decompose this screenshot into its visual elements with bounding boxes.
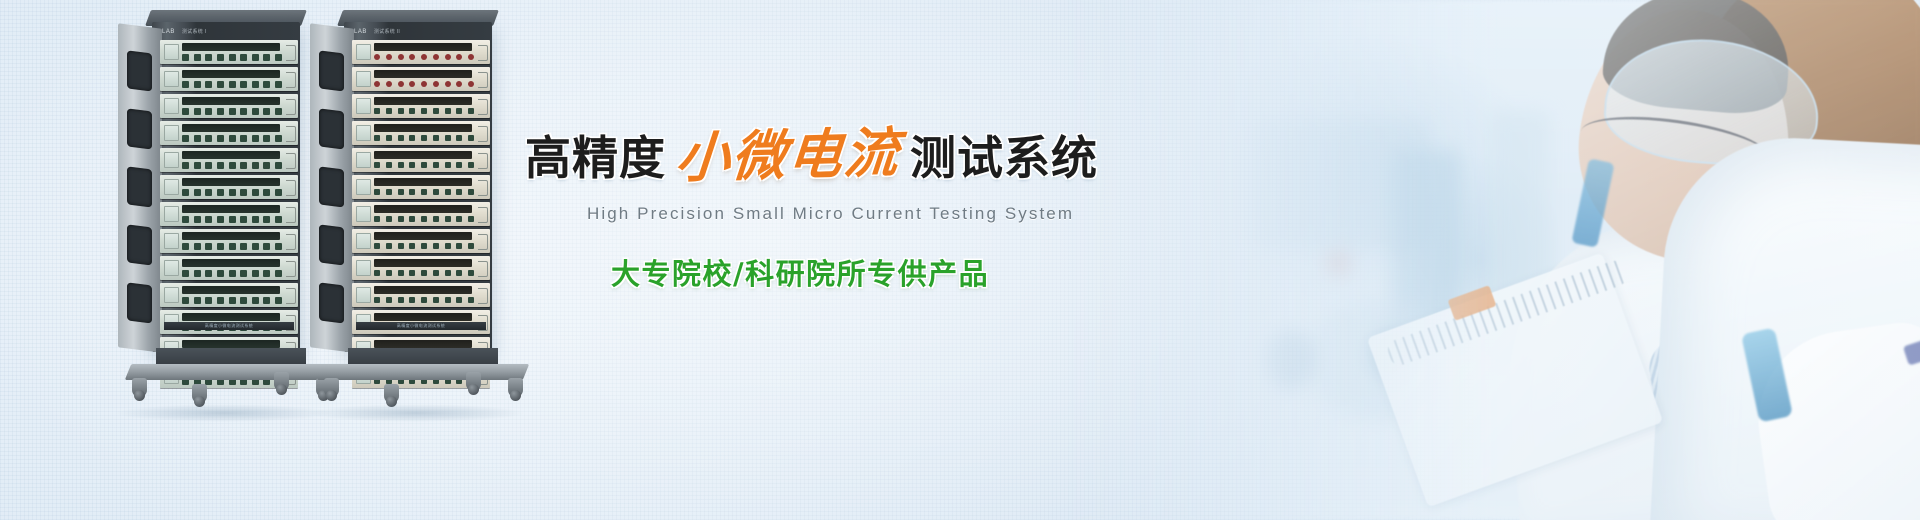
- banner-headline: 高精度 小微电流 测试系统: [525, 128, 1145, 182]
- module-display-icon: [164, 179, 179, 195]
- module-handle-icon: [478, 180, 488, 196]
- module-terminal-row: [374, 188, 474, 196]
- module-readout: [182, 151, 280, 159]
- rack-module: [160, 40, 298, 64]
- module-handle-icon: [478, 126, 488, 142]
- module-readout: [182, 97, 280, 105]
- module-readout: [374, 70, 472, 78]
- rack-bottom-label: 高精度小微电流测试系统: [164, 322, 294, 330]
- rack-module: [352, 94, 490, 118]
- rack-base: [128, 348, 324, 390]
- rack-module: [160, 175, 298, 199]
- module-readout: [182, 313, 280, 321]
- module-readout: [182, 205, 280, 213]
- module-terminal-row: [182, 107, 282, 115]
- module-terminal-row: [374, 53, 474, 61]
- module-terminal-row: [374, 215, 474, 223]
- rack-brand-plate: LAB 测试系统 I: [162, 26, 292, 37]
- rack-side-post: [118, 23, 162, 352]
- module-terminal-row: [374, 80, 474, 88]
- module-display-icon: [356, 287, 371, 303]
- module-readout: [182, 43, 280, 51]
- module-handle-icon: [286, 126, 296, 142]
- module-terminal-row: [182, 242, 282, 250]
- module-readout: [182, 286, 280, 294]
- rack-module-stack: [352, 40, 490, 391]
- module-display-icon: [356, 71, 371, 87]
- module-display-icon: [356, 260, 371, 276]
- rack-brand-logo: LAB: [354, 29, 367, 35]
- module-handle-icon: [478, 45, 488, 61]
- module-display-icon: [356, 233, 371, 249]
- module-terminal-row: [182, 188, 282, 196]
- module-handle-icon: [478, 261, 488, 277]
- product-banner: LAB 测试系统 I 高精度小微电流测试系统 LAB 测试系统 II 高精度小微…: [0, 0, 1920, 520]
- rack-brand-plate: LAB 测试系统 II: [354, 26, 484, 37]
- module-display-icon: [356, 152, 371, 168]
- module-terminal-row: [182, 269, 282, 277]
- rack-module: [352, 256, 490, 280]
- module-handle-icon: [478, 72, 488, 88]
- banner-subtitle-english: High Precision Small Micro Current Testi…: [587, 204, 1145, 224]
- rack-model-text: 测试系统 I: [182, 28, 207, 35]
- module-terminal-row: [182, 80, 282, 88]
- module-display-icon: [164, 71, 179, 87]
- module-terminal-row: [374, 296, 474, 304]
- module-handle-icon: [286, 180, 296, 196]
- module-terminal-row: [374, 242, 474, 250]
- module-handle-icon: [286, 261, 296, 277]
- photo-fade-overlay: [1060, 0, 1920, 520]
- module-terminal-row: [182, 134, 282, 142]
- module-readout: [182, 340, 280, 348]
- rack-module: [352, 283, 490, 307]
- module-readout: [374, 286, 472, 294]
- module-handle-icon: [286, 207, 296, 223]
- rack-side-post: [310, 23, 354, 352]
- module-display-icon: [164, 260, 179, 276]
- rack-floor-shadow: [306, 404, 526, 422]
- rack-module: [352, 121, 490, 145]
- module-handle-icon: [478, 288, 488, 304]
- module-readout: [374, 340, 472, 348]
- banner-text-block: 高精度 小微电流 测试系统 High Precision Small Micro…: [525, 128, 1145, 293]
- module-readout: [374, 97, 472, 105]
- rack-bottom-label: 高精度小微电流测试系统: [356, 322, 486, 330]
- rack-module: [160, 202, 298, 226]
- module-readout: [374, 259, 472, 267]
- module-readout: [374, 124, 472, 132]
- rack-module: [160, 229, 298, 253]
- rack-module-stack: [160, 40, 298, 391]
- module-handle-icon: [286, 288, 296, 304]
- module-readout: [374, 151, 472, 159]
- module-terminal-row: [182, 53, 282, 61]
- module-display-icon: [356, 98, 371, 114]
- module-display-icon: [164, 98, 179, 114]
- module-terminal-row: [374, 269, 474, 277]
- module-handle-icon: [286, 153, 296, 169]
- module-display-icon: [356, 179, 371, 195]
- rack-module: [352, 202, 490, 226]
- rack-module: [352, 229, 490, 253]
- module-handle-icon: [478, 153, 488, 169]
- module-display-icon: [164, 287, 179, 303]
- module-handle-icon: [478, 99, 488, 115]
- headline-part-3: 测试系统: [910, 135, 1098, 181]
- rack-floor-shadow: [114, 404, 334, 422]
- module-readout: [374, 232, 472, 240]
- rack-base: [320, 348, 516, 390]
- module-display-icon: [164, 125, 179, 141]
- module-display-icon: [164, 206, 179, 222]
- module-readout: [182, 259, 280, 267]
- module-terminal-row: [182, 215, 282, 223]
- module-display-icon: [356, 206, 371, 222]
- rack-module: [160, 256, 298, 280]
- rack-brand-logo: LAB: [162, 29, 175, 35]
- module-readout: [374, 43, 472, 51]
- module-readout: [182, 232, 280, 240]
- rack-module: [160, 67, 298, 91]
- rack-module: [352, 67, 490, 91]
- module-handle-icon: [286, 45, 296, 61]
- rack-module: [352, 40, 490, 64]
- lab-researchers-photo: [1060, 0, 1920, 520]
- module-handle-icon: [478, 207, 488, 223]
- module-handle-icon: [286, 99, 296, 115]
- headline-part-2-highlight: 小微电流: [664, 125, 913, 185]
- module-terminal-row: [374, 107, 474, 115]
- module-terminal-row: [374, 161, 474, 169]
- module-readout: [182, 124, 280, 132]
- rack-module: [352, 148, 490, 172]
- rack-module: [160, 94, 298, 118]
- module-display-icon: [164, 44, 179, 60]
- module-readout: [182, 178, 280, 186]
- module-handle-icon: [286, 72, 296, 88]
- module-display-icon: [164, 233, 179, 249]
- rack-module: [160, 283, 298, 307]
- module-readout: [374, 205, 472, 213]
- headline-part-1: 高精度: [525, 135, 666, 181]
- module-terminal-row: [182, 296, 282, 304]
- module-display-icon: [164, 152, 179, 168]
- rack-model-text: 测试系统 II: [374, 28, 400, 35]
- module-terminal-row: [182, 161, 282, 169]
- module-readout: [374, 178, 472, 186]
- module-display-icon: [356, 125, 371, 141]
- module-readout: [182, 70, 280, 78]
- module-handle-icon: [478, 234, 488, 250]
- module-handle-icon: [286, 234, 296, 250]
- module-terminal-row: [374, 134, 474, 142]
- rack-module: [160, 121, 298, 145]
- module-display-icon: [356, 44, 371, 60]
- banner-tagline: 大专院校/科研院所专供产品: [611, 251, 1145, 293]
- module-readout: [374, 313, 472, 321]
- rack-module: [160, 148, 298, 172]
- rack-module: [352, 175, 490, 199]
